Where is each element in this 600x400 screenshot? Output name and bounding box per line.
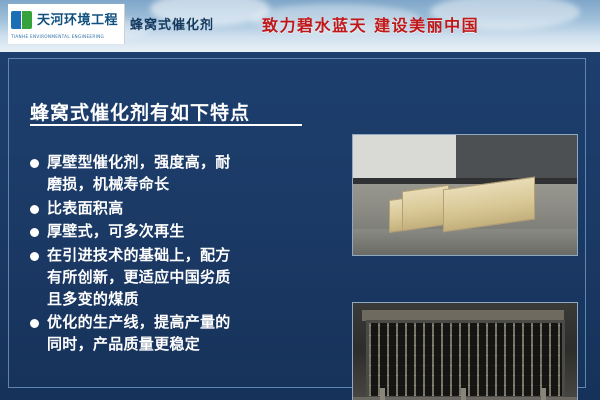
- list-item: 优化的生产线，提高产量的 同时，产品质量更稳定: [30, 312, 330, 356]
- catalyst-module-assembly-photo: [352, 302, 578, 400]
- bullet-dot-icon: [30, 205, 39, 214]
- company-slogan: 致力碧水蓝天 建设美丽中国: [262, 12, 479, 36]
- bullet-dot-icon: [30, 252, 39, 261]
- list-item: 在引进技术的基础上，配方 有所创新，更适应中国劣质 且多变的煤质: [30, 245, 330, 310]
- bullet-dot-icon: [30, 159, 39, 168]
- presentation-slide: 天河环境工程 TIANHE ENVIRONMENTAL ENGINEERING …: [0, 0, 600, 400]
- slide-header: 天河环境工程 TIANHE ENVIRONMENTAL ENGINEERING …: [0, 0, 600, 52]
- company-logo: 天河环境工程 TIANHE ENVIRONMENTAL ENGINEERING: [8, 4, 125, 44]
- list-item-text: 比表面积高: [47, 198, 124, 220]
- bullet-dot-icon: [30, 319, 39, 328]
- page-title: 蜂窝式催化剂有如下特点: [30, 98, 250, 125]
- bullet-dot-icon: [30, 228, 39, 237]
- list-item: 比表面积高: [30, 198, 330, 220]
- slide-body: 蜂窝式催化剂有如下特点 厚壁型催化剂，强度高，耐 磨损，机械寿命长 比表面积高 …: [0, 52, 600, 400]
- list-item-text: 在引进技术的基础上，配方 有所创新，更适应中国劣质 且多变的煤质: [47, 245, 231, 310]
- tianhe-logo-mark-icon: [11, 9, 33, 31]
- company-name-cn: 天河环境工程: [37, 14, 118, 27]
- bullet-list: 厚壁型催化剂，强度高，耐 磨损，机械寿命长 比表面积高 厚壁式，可多次再生 在引…: [30, 152, 330, 358]
- list-item-text: 厚壁型催化剂，强度高，耐 磨损，机械寿命长: [47, 152, 231, 196]
- list-item: 厚壁型催化剂，强度高，耐 磨损，机械寿命长: [30, 152, 330, 196]
- list-item-text: 优化的生产线，提高产量的 同时，产品质量更稳定: [47, 312, 231, 356]
- list-item: 厚壁式，可多次再生: [30, 221, 330, 243]
- title-underline: [30, 124, 302, 126]
- company-name-en: TIANHE ENVIRONMENTAL ENGINEERING: [8, 34, 124, 39]
- honeycomb-catalyst-blocks-photo: [352, 134, 578, 256]
- list-item-text: 厚壁式，可多次再生: [47, 221, 185, 243]
- product-label: 蜂窝式催化剂: [130, 14, 214, 33]
